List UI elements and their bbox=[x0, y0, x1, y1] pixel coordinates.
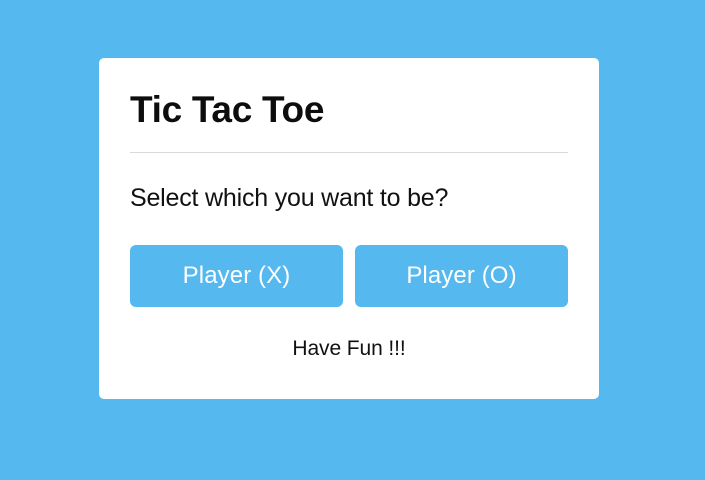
app-root: Tic Tac Toe Select which you want to be?… bbox=[0, 0, 705, 480]
title-divider bbox=[130, 152, 568, 153]
player-o-button[interactable]: Player (O) bbox=[355, 245, 568, 307]
game-setup-card: Tic Tac Toe Select which you want to be?… bbox=[99, 58, 599, 399]
have-fun-note: Have Fun !!! bbox=[130, 335, 568, 362]
player-x-button[interactable]: Player (X) bbox=[130, 245, 343, 307]
page-title: Tic Tac Toe bbox=[130, 88, 324, 132]
player-select-prompt: Select which you want to be? bbox=[130, 182, 448, 215]
card-content: Tic Tac Toe Select which you want to be?… bbox=[130, 58, 568, 399]
player-choice-group: Player (X) Player (O) bbox=[130, 245, 568, 307]
